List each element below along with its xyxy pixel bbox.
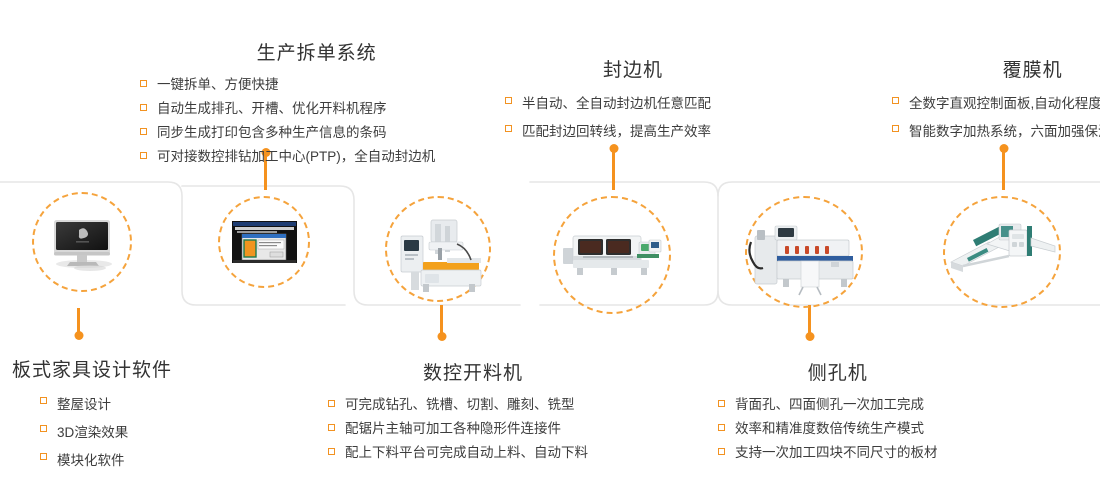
- list-item: 支持一次加工四块不同尺寸的板材: [718, 442, 938, 464]
- list-item-label: 配锯片主轴可加工各种隐形件连接件: [345, 421, 561, 436]
- node-edge-banding-machine[interactable]: [553, 196, 671, 314]
- list-item-label: 配上下料平台可完成自动上料、自动下料: [345, 445, 588, 460]
- feature-list-edge-banding-machine: 半自动、全自动封边机任意匹配 匹配封边回转线，提高生产效率: [505, 91, 711, 145]
- list-item-label: 匹配封边回转线，提高生产效率: [522, 124, 711, 139]
- list-item-label: 同步生成打印包含多种生产信息的条码: [157, 125, 387, 140]
- list-item: 一键拆单、方便快捷: [140, 74, 435, 96]
- square-bullet-icon: [718, 424, 725, 431]
- square-bullet-icon: [892, 97, 899, 104]
- list-item: 智能数字加热系统，六面加强保温: [892, 119, 1100, 145]
- list-item: 背面孔、四面侧孔一次加工完成: [718, 394, 938, 416]
- heading-laminating-machine: 覆膜机: [892, 55, 1100, 82]
- list-item: 全数字直观控制面板,自动化程度高: [892, 91, 1100, 117]
- square-bullet-icon: [328, 400, 335, 407]
- square-bullet-icon: [40, 453, 47, 460]
- connector-stem-side-hole-machine: [808, 305, 811, 337]
- node-laminating-machine[interactable]: [943, 196, 1061, 308]
- square-bullet-icon: [328, 424, 335, 431]
- feature-list-laminating-machine: 全数字直观控制面板,自动化程度高 智能数字加热系统，六面加强保温: [892, 91, 1100, 145]
- list-item: 配锯片主轴可加工各种隐形件连接件: [328, 418, 588, 440]
- node-design-software[interactable]: [32, 192, 132, 292]
- list-item-label: 可完成钻孔、铣槽、切割、雕刻、铣型: [345, 397, 575, 412]
- connector-stem-cnc-cutting-machine: [440, 305, 443, 337]
- list-item-label: 一键拆单、方便快捷: [157, 77, 279, 92]
- square-bullet-icon: [140, 80, 147, 87]
- heading-split-order-system: 生产拆单系统: [140, 38, 435, 65]
- square-bullet-icon: [718, 400, 725, 407]
- connector-dot: [437, 332, 446, 341]
- list-item: 整屋设计: [40, 391, 172, 419]
- list-item-label: 模块化软件: [57, 453, 125, 468]
- edge-banding-machine-icon: [553, 196, 671, 314]
- connector-dot: [74, 331, 83, 340]
- list-item: 半自动、全自动封边机任意匹配: [505, 91, 711, 117]
- square-bullet-icon: [328, 448, 335, 455]
- square-bullet-icon: [505, 97, 512, 104]
- list-item-label: 支持一次加工四块不同尺寸的板材: [735, 445, 938, 460]
- infographic-stage: 生产拆单系统 一键拆单、方便快捷 自动生成排孔、开槽、优化开料机程序 同步生成打…: [0, 0, 1100, 495]
- list-item-label: 效率和精准度数倍传统生产模式: [735, 421, 924, 436]
- node-cnc-cutting-machine[interactable]: [385, 196, 491, 302]
- list-item-label: 全数字直观控制面板,自动化程度高: [909, 96, 1100, 111]
- list-item: 自动生成排孔、开槽、优化开料机程序: [140, 98, 435, 120]
- connector-stem-edge-banding-machine: [612, 148, 615, 190]
- text-block-laminating-machine: 覆膜机 全数字直观控制面板,自动化程度高 智能数字加热系统，六面加强保温: [892, 55, 1100, 147]
- list-item-label: 智能数字加热系统，六面加强保温: [909, 124, 1100, 139]
- list-item: 效率和精准度数倍传统生产模式: [718, 418, 938, 440]
- text-block-design-software: 板式家具设计软件 整屋设计 3D渲染效果 模块化软件: [12, 355, 172, 475]
- connector-stem-laminating-machine: [1002, 148, 1005, 190]
- list-item-label: 半自动、全自动封边机任意匹配: [522, 96, 711, 111]
- node-side-hole-machine[interactable]: [745, 196, 863, 308]
- desktop-monitor-icon: [32, 192, 132, 292]
- list-item: 可完成钻孔、铣槽、切割、雕刻、铣型: [328, 394, 588, 416]
- list-item-label: 整屋设计: [57, 397, 111, 412]
- feature-list-cnc-cutting-machine: 可完成钻孔、铣槽、切割、雕刻、铣型 配锯片主轴可加工各种隐形件连接件 配上下料平…: [328, 394, 588, 464]
- square-bullet-icon: [40, 425, 47, 432]
- square-bullet-icon: [40, 397, 47, 404]
- text-block-split-order-system: 生产拆单系统 一键拆单、方便快捷 自动生成排孔、开槽、优化开料机程序 同步生成打…: [140, 38, 435, 170]
- laminating-machine-icon: [943, 196, 1061, 308]
- text-block-edge-banding-machine: 封边机 半自动、全自动封边机任意匹配 匹配封边回转线，提高生产效率: [505, 55, 711, 147]
- list-item: 可对接数控排钻加工中心(PTP)，全自动封边机: [140, 146, 435, 168]
- square-bullet-icon: [718, 448, 725, 455]
- list-item-label: 3D渲染效果: [57, 425, 128, 440]
- square-bullet-icon: [140, 128, 147, 135]
- software-screenshot-icon: [218, 196, 310, 288]
- cnc-router-machine-icon: [385, 196, 491, 302]
- list-item: 同步生成打印包含多种生产信息的条码: [140, 122, 435, 144]
- feature-list-side-hole-machine: 背面孔、四面侧孔一次加工完成 效率和精准度数倍传统生产模式 支持一次加工四块不同…: [718, 394, 938, 464]
- square-bullet-icon: [892, 125, 899, 132]
- heading-edge-banding-machine: 封边机: [505, 55, 711, 82]
- list-item-label: 自动生成排孔、开槽、优化开料机程序: [157, 101, 387, 116]
- square-bullet-icon: [140, 152, 147, 159]
- list-item: 3D渲染效果: [40, 419, 172, 447]
- list-item: 配上下料平台可完成自动上料、自动下料: [328, 442, 588, 464]
- connector-dot: [805, 332, 814, 341]
- list-item-label: 可对接数控排钻加工中心(PTP)，全自动封边机: [157, 149, 435, 164]
- square-bullet-icon: [505, 125, 512, 132]
- heading-cnc-cutting-machine: 数控开料机: [328, 358, 588, 385]
- text-block-side-hole-machine: 侧孔机 背面孔、四面侧孔一次加工完成 效率和精准度数倍传统生产模式 支持一次加工…: [718, 358, 938, 466]
- text-block-cnc-cutting-machine: 数控开料机 可完成钻孔、铣槽、切割、雕刻、铣型 配锯片主轴可加工各种隐形件连接件…: [328, 358, 588, 466]
- connector-stem-design-software: [77, 308, 80, 336]
- square-bullet-icon: [140, 104, 147, 111]
- side-hole-drilling-machine-icon: [745, 196, 863, 308]
- feature-list-design-software: 整屋设计 3D渲染效果 模块化软件: [12, 391, 172, 475]
- heading-side-hole-machine: 侧孔机: [718, 358, 938, 385]
- feature-list-split-order-system: 一键拆单、方便快捷 自动生成排孔、开槽、优化开料机程序 同步生成打印包含多种生产…: [140, 74, 435, 168]
- list-item-label: 背面孔、四面侧孔一次加工完成: [735, 397, 924, 412]
- node-split-order-system[interactable]: [218, 196, 310, 288]
- list-item: 模块化软件: [40, 447, 172, 475]
- list-item: 匹配封边回转线，提高生产效率: [505, 119, 711, 145]
- heading-design-software: 板式家具设计软件: [12, 355, 172, 382]
